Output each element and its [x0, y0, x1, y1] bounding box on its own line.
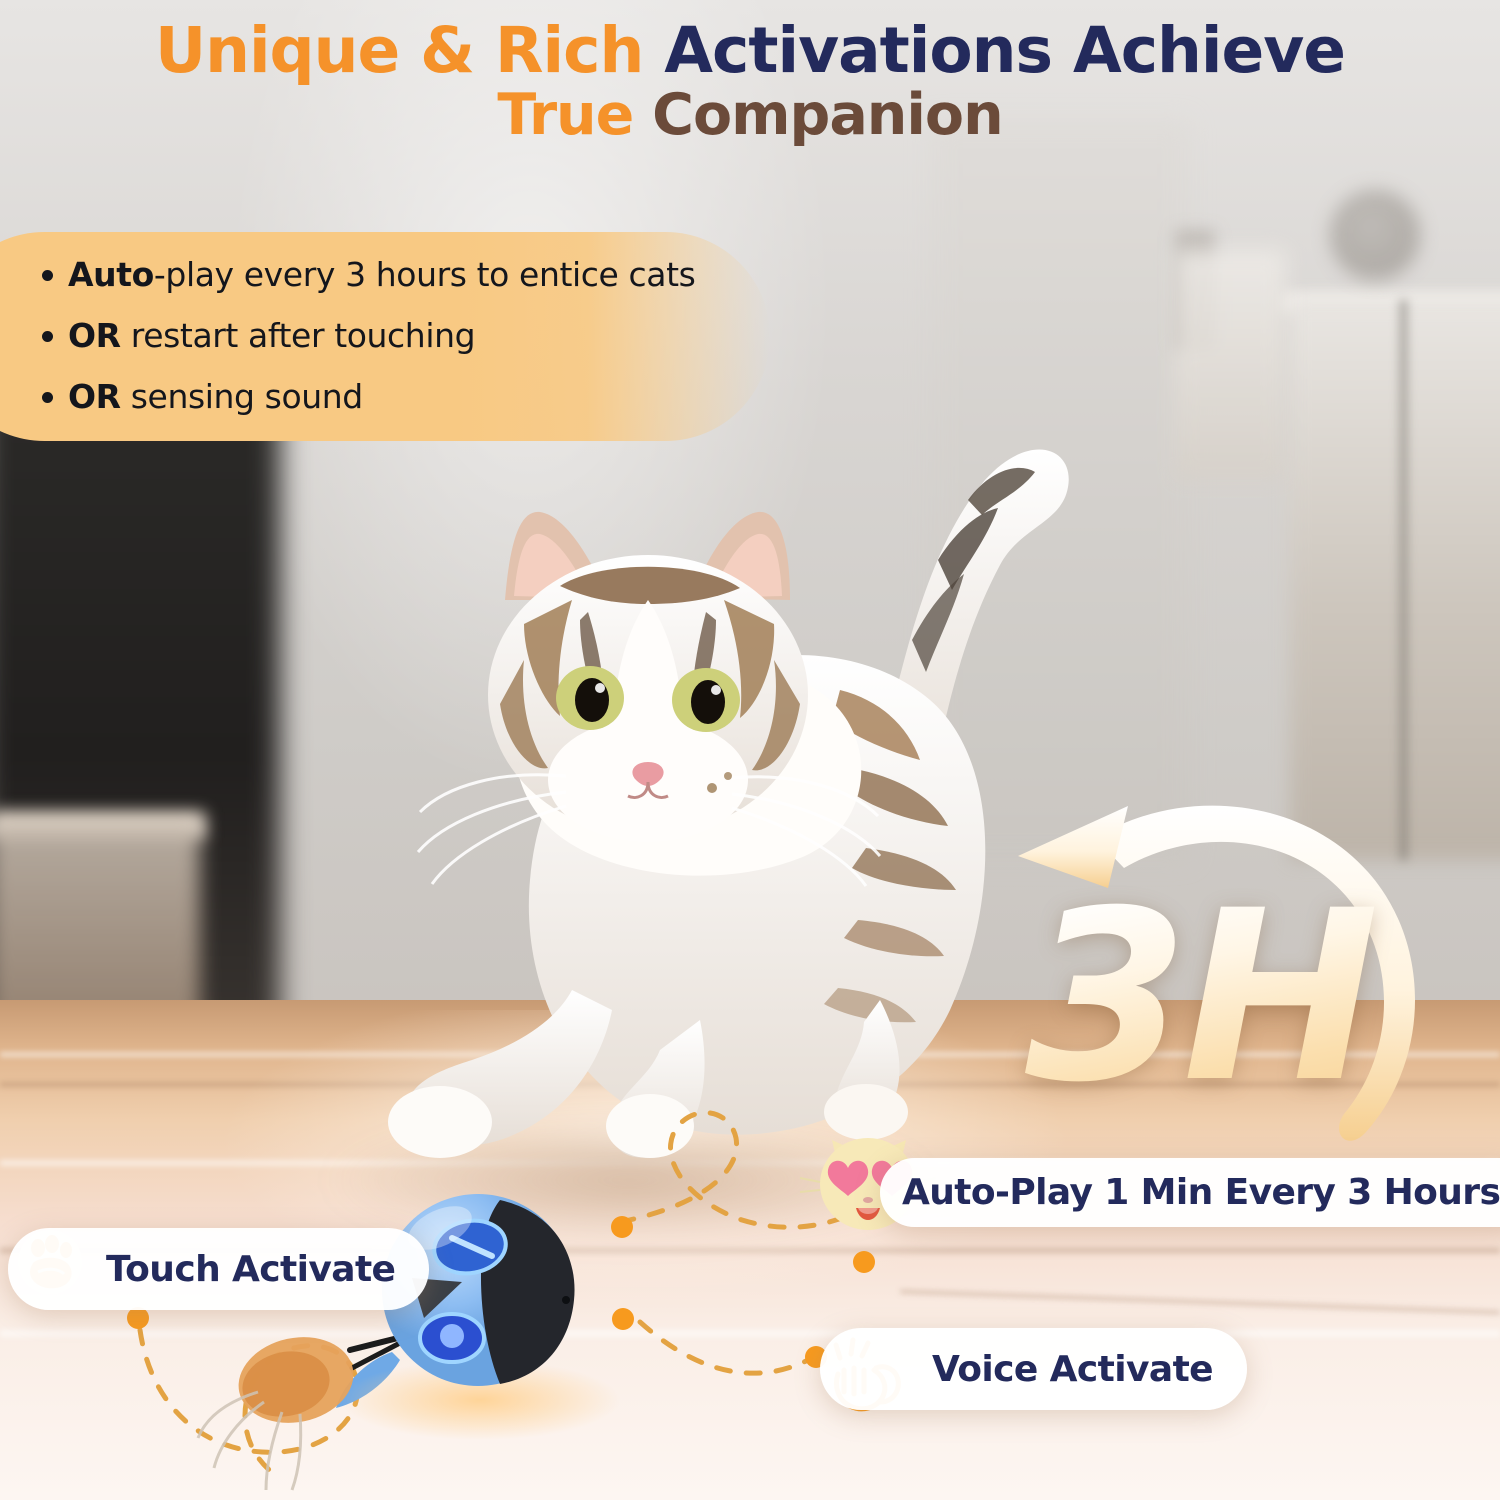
badge-auto-play: Auto-Play 1 Min Every 3 Hours: [880, 1158, 1500, 1227]
headline-emphasis-2: True: [497, 82, 652, 148]
badge-label: Voice Activate: [932, 1349, 1213, 1390]
paw-icon-slot: [30, 1242, 92, 1296]
badge-touch-activate: Touch Activate: [8, 1228, 429, 1310]
feature-list-panel: Auto-play every 3 hours to entice cats O…: [0, 232, 770, 441]
headline-line-1: Unique & Rich Activations Achieve: [0, 18, 1500, 85]
list-item-text: restart after touching: [121, 316, 475, 355]
list-item: OR restart after touching: [68, 319, 770, 352]
duration-label: 3H: [1025, 880, 1445, 1115]
list-item: OR sensing sound: [68, 380, 770, 413]
clap-icon-slot: [842, 1342, 918, 1396]
headline-rest-2: Companion: [652, 82, 1003, 148]
auto-play-interval-graphic: 3H: [985, 775, 1455, 1175]
cat-floor-shadow: [330, 1120, 930, 1240]
list-item: Auto-play every 3 hours to entice cats: [68, 258, 770, 291]
product-feature-graphic: Unique & Rich Activations Achieve True C…: [0, 0, 1500, 1500]
list-item-text: sensing sound: [121, 377, 363, 416]
headline-rest: Activations Achieve: [664, 14, 1345, 87]
badge-voice-activate: Voice Activate: [820, 1328, 1247, 1410]
page-title: Unique & Rich Activations Achieve True C…: [0, 18, 1500, 145]
headline-emphasis: Unique & Rich: [155, 14, 664, 87]
blurred-vase: [1175, 250, 1285, 480]
list-item-lead: Auto: [68, 255, 154, 294]
headline-line-2: True Companion: [0, 85, 1500, 145]
list-item-text: -play every 3 hours to entice cats: [154, 255, 696, 294]
badge-label: Touch Activate: [106, 1249, 395, 1290]
blurred-doorway: [930, 120, 1190, 860]
badge-label: Auto-Play 1 Min Every 3 Hours: [902, 1172, 1500, 1213]
list-item-lead: OR: [68, 377, 121, 416]
list-item-lead: OR: [68, 316, 121, 355]
wall-decor-round: [1330, 190, 1420, 280]
